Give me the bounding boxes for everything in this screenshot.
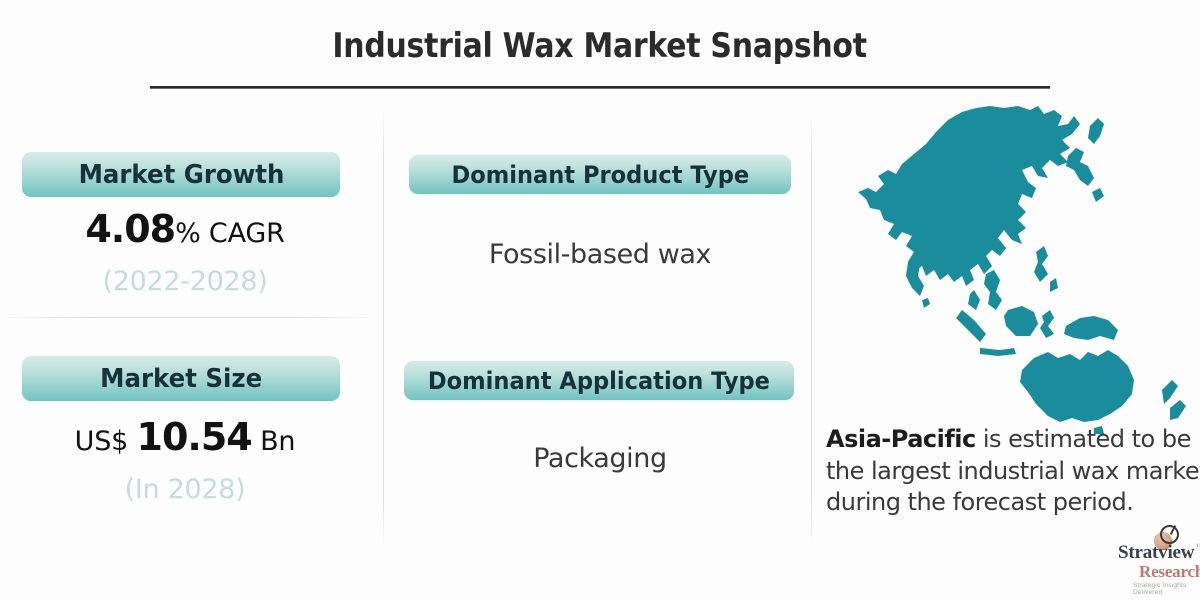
logo-trademark: ™ bbox=[1196, 542, 1200, 551]
dominant-product-type-value: Fossil-based wax bbox=[390, 239, 810, 270]
market-size-pill: Market Size bbox=[22, 356, 340, 401]
logo-brand-sub: Research bbox=[1139, 562, 1200, 582]
dominant-application-type-pill: Dominant Application Type bbox=[404, 361, 794, 400]
region-caption: Asia-Pacific is estimated to be the larg… bbox=[826, 424, 1200, 519]
dominant-product-type-pill-label: Dominant Product Type bbox=[451, 161, 749, 189]
divider-left-middle bbox=[383, 112, 384, 547]
region-caption-bold: Asia-Pacific bbox=[826, 425, 976, 453]
stratview-research-logo: Stratview ™ Research Strategic Insights … bbox=[1118, 524, 1200, 598]
asia-pacific-map-icon bbox=[822, 104, 1200, 434]
divider-middle-right bbox=[811, 112, 812, 547]
dominant-application-type-pill-label: Dominant Application Type bbox=[428, 367, 770, 395]
market-growth-stat: 4.08% CAGR (2022-2028) bbox=[0, 210, 370, 297]
market-growth-pill-label: Market Growth bbox=[78, 160, 284, 190]
market-growth-value-line: 4.08% CAGR bbox=[0, 210, 370, 248]
market-size-value-number: 10.54 bbox=[137, 415, 252, 459]
divider-left-column-horizontal bbox=[8, 317, 368, 318]
market-size-pill-label: Market Size bbox=[100, 364, 262, 394]
page-title: Industrial Wax Market Snapshot bbox=[333, 26, 867, 66]
dominant-product-type-pill: Dominant Product Type bbox=[409, 155, 791, 194]
title-underline-rule bbox=[150, 86, 1050, 89]
market-growth-value-number: 4.08 bbox=[85, 207, 175, 251]
page-title-wrapper: Industrial Wax Market Snapshot bbox=[0, 26, 1200, 66]
market-growth-period: (2022-2028) bbox=[0, 266, 370, 297]
market-size-value-prefix: US$ bbox=[75, 426, 137, 457]
market-size-value-line: US$ 10.54 Bn bbox=[0, 418, 370, 456]
market-size-stat: US$ 10.54 Bn (In 2028) bbox=[0, 418, 370, 505]
market-growth-pill: Market Growth bbox=[22, 152, 340, 197]
market-size-period: (In 2028) bbox=[0, 474, 370, 505]
market-growth-value-unit: % CAGR bbox=[175, 218, 285, 249]
logo-brand-name: Stratview bbox=[1118, 542, 1194, 564]
logo-tagline: Strategic Insights Delivered bbox=[1133, 582, 1200, 596]
market-size-value-suffix: Bn bbox=[252, 426, 296, 457]
dominant-application-type-value: Packaging bbox=[390, 443, 810, 474]
